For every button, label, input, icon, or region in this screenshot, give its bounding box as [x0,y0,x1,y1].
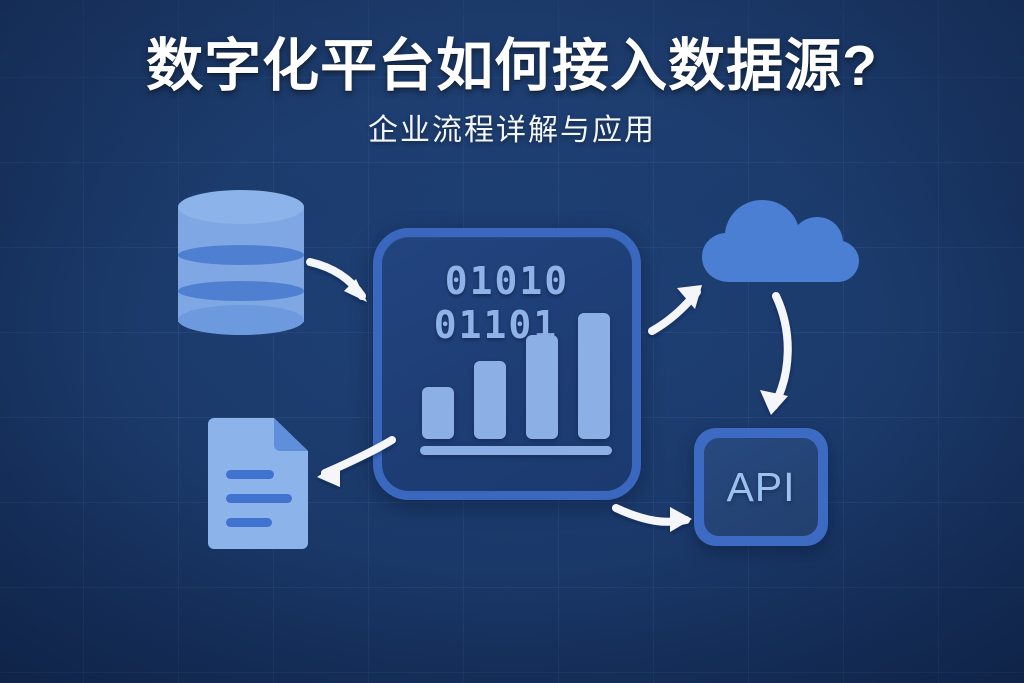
api-label: API [726,467,795,508]
poster-canvas: 数字化平台如何接入数据源? 企业流程详解与应用 [0,0,1024,683]
chart-bar [526,335,558,439]
chart-baseline [420,446,612,455]
document-icon [200,418,308,551]
database-icon [178,190,304,322]
platform-box: 01010 01101 [373,228,641,500]
api-box-icon: API [694,428,828,546]
bar-chart [422,307,610,439]
cloud-shape [700,192,860,284]
chart-bar [578,313,610,439]
document-shape [200,418,308,551]
chart-bar [422,387,454,439]
title-block: 数字化平台如何接入数据源? 企业流程详解与应用 [0,36,1024,147]
page-title: 数字化平台如何接入数据源? [0,36,1024,96]
page-subtitle: 企业流程详解与应用 [0,114,1024,147]
binary-line-1: 01010 [382,259,632,303]
chart-bar [474,361,506,439]
api-inner-panel: API [704,438,818,536]
cloud-icon [700,192,860,284]
